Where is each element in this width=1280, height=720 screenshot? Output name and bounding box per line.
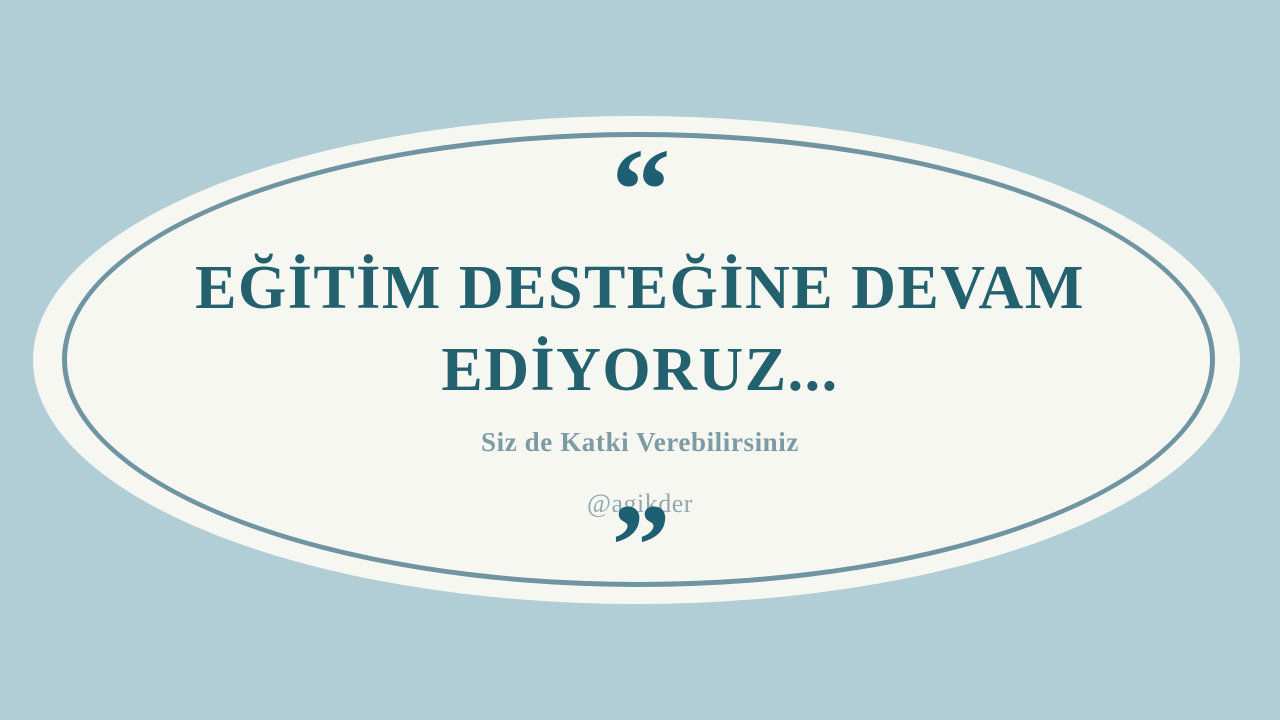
quote-poster: “ EĞİTİM DESTEĞİNE DEVAM EDİYORUZ... Siz… [0, 0, 1280, 720]
headline-text: EĞİTİM DESTEĞİNE DEVAM EDİYORUZ... [120, 248, 1160, 412]
subtitle-text: Siz de Katki Verebilirsiniz [140, 427, 1140, 458]
close-quote-icon: ” [0, 487, 1280, 607]
open-quote-icon: “ [0, 131, 1280, 227]
poster-content: “ EĞİTİM DESTEĞİNE DEVAM EDİYORUZ... Siz… [0, 0, 1280, 720]
